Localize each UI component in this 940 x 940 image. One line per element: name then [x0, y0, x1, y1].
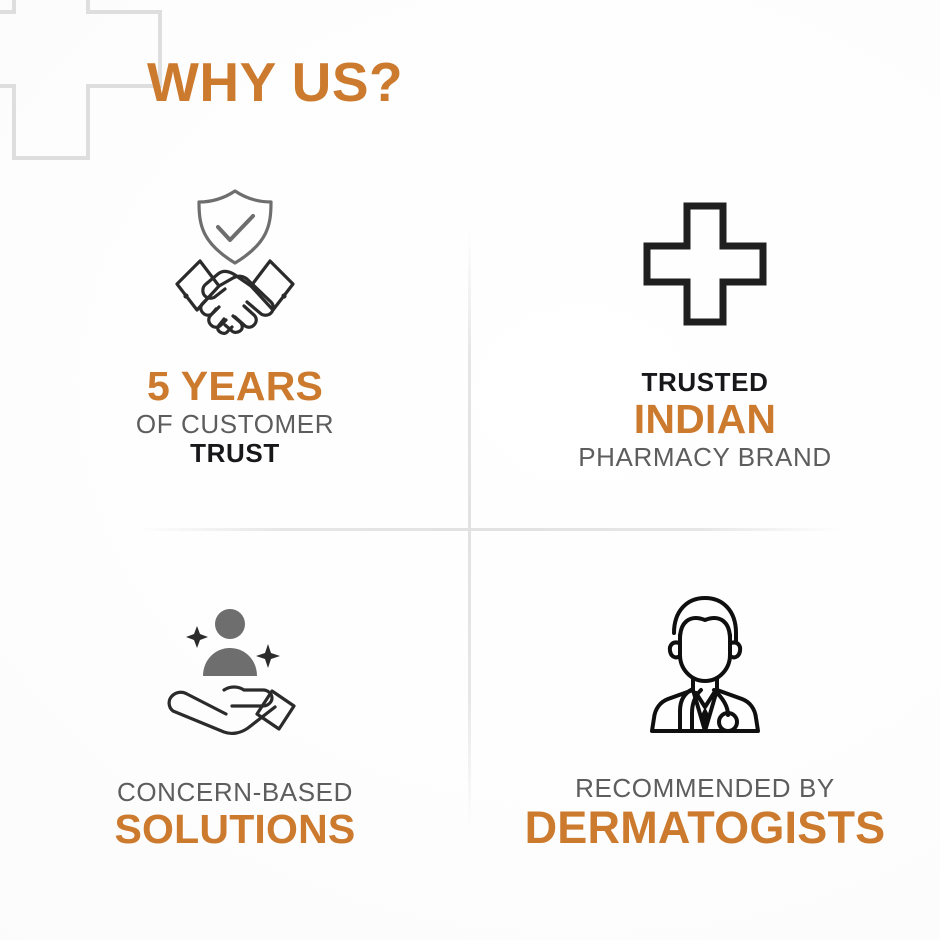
feature-item-concern-based-solutions: CONCERN-BASED SOLUTIONS: [0, 530, 470, 910]
feature-text: CONCERN-BASED SOLUTIONS: [115, 778, 356, 853]
feature-item-recommended-by-dermatogists: RECOMMENDED BY DERMATOGISTS: [470, 530, 940, 910]
plus-outline-icon: [0, 0, 162, 160]
feature-line-2: SOLUTIONS: [115, 807, 356, 853]
feature-line-1: CONCERN-BASED: [115, 778, 356, 807]
feature-text: 5 YEARS OF CUSTOMER TRUST: [136, 364, 334, 468]
feature-line-1: 5 YEARS: [136, 364, 334, 410]
handshake-shield-check-icon: [159, 180, 311, 340]
medical-cross-icon: [643, 184, 767, 344]
hand-holding-person-sparkle-icon: [162, 588, 308, 748]
feature-item-years-of-customer-trust: 5 YEARS OF CUSTOMER TRUST: [0, 170, 470, 530]
feature-text: TRUSTED INDIAN PHARMACY BRAND: [578, 368, 832, 472]
feature-line-1: TRUSTED: [578, 368, 832, 397]
feature-grid: 5 YEARS OF CUSTOMER TRUST TRUSTED INDIAN…: [0, 170, 940, 910]
promo-canvas: WHY US?: [0, 0, 940, 940]
feature-line-2: INDIAN: [578, 397, 832, 443]
feature-line-3: PHARMACY BRAND: [578, 443, 832, 472]
feature-item-trusted-indian-pharmacy-brand: TRUSTED INDIAN PHARMACY BRAND: [470, 170, 940, 530]
feature-line-2: OF CUSTOMER: [136, 410, 334, 439]
doctor-stethoscope-icon: [638, 582, 772, 742]
feature-line-2: DERMATOGISTS: [525, 803, 886, 853]
feature-text: RECOMMENDED BY DERMATOGISTS: [525, 774, 886, 854]
page-title: WHY US?: [147, 55, 403, 110]
feature-line-1: RECOMMENDED BY: [525, 774, 886, 803]
feature-line-3: TRUST: [136, 439, 334, 468]
